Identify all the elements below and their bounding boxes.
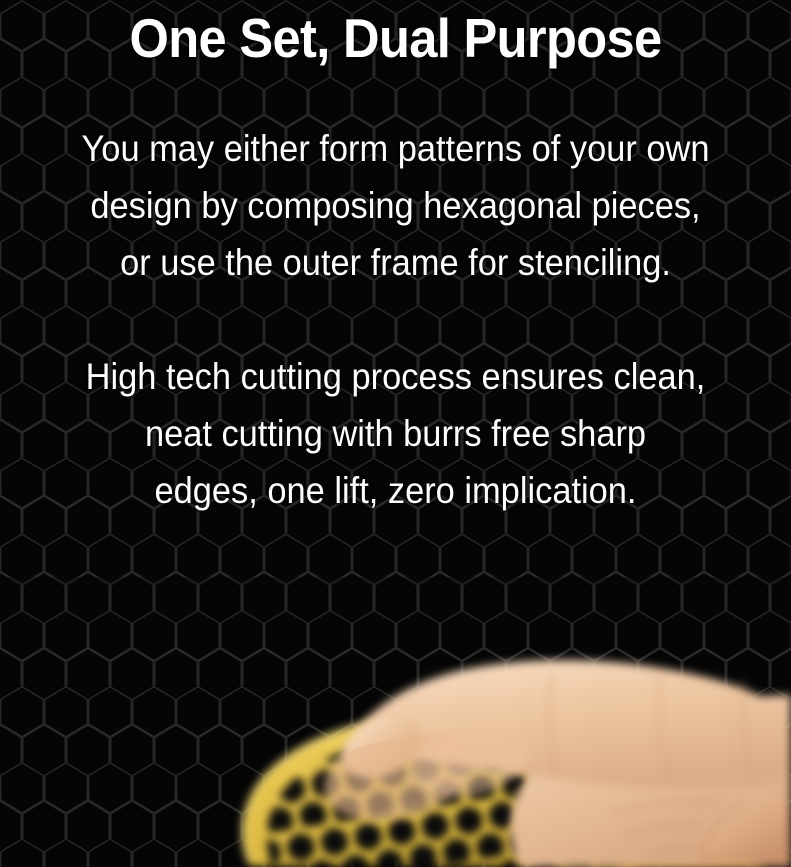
paragraph-one-line-2: design by composing hexagonal pieces, [56, 177, 736, 234]
paragraph-one-line-3: or use the outer frame for stenciling. [56, 234, 736, 291]
hand [332, 660, 791, 867]
product-feature-panel: One Set, Dual Purpose You may either for… [0, 0, 791, 867]
paragraph-one-line-1: You may either form patterns of your own [56, 120, 736, 177]
mesh-webbing-overlay [240, 707, 670, 867]
product-photo-hand-holding-stencil [0, 577, 791, 867]
paragraph-two-line-2: neat cutting with burrs free sharp [56, 405, 736, 462]
honeycomb-stencil-sheet [240, 707, 670, 867]
paragraph-one: You may either form patterns of your own… [56, 120, 736, 291]
page-title: One Set, Dual Purpose [59, 10, 732, 68]
paragraph-two: High tech cutting process ensures clean,… [56, 348, 736, 519]
paragraph-two-line-1: High tech cutting process ensures clean, [56, 348, 736, 405]
stencil-flat-flap [560, 791, 766, 866]
skin-through-mesh [313, 709, 536, 837]
shadow-gap [505, 782, 700, 827]
paragraph-two-line-3: edges, one lift, zero implication. [56, 462, 736, 519]
body-copy: You may either form patterns of your own… [56, 120, 736, 519]
text-content-block: One Set, Dual Purpose You may either for… [0, 0, 791, 519]
